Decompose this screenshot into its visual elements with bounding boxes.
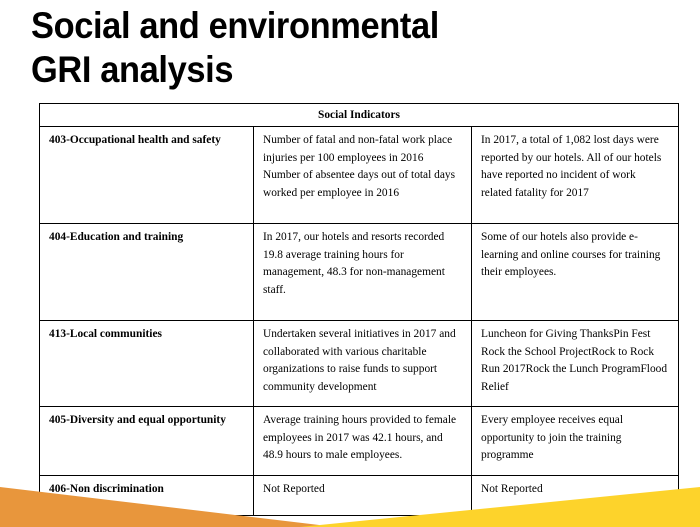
disclosure-description: In 2017, a total of 1,082 lost days were… — [472, 127, 679, 224]
measure-description: Not Reported — [254, 476, 472, 516]
slide-canvas: Social and environmental GRI analysis So… — [0, 0, 700, 527]
table-row: 405-Diversity and equal opportunity Aver… — [40, 407, 679, 476]
indicator-code-label: 413-Local communities — [40, 321, 254, 407]
measure-description: Number of fatal and non-fatal work place… — [254, 127, 472, 224]
disclosure-description: Not Reported — [472, 476, 679, 516]
indicator-code-label: 405-Diversity and equal opportunity — [40, 407, 254, 476]
disclosure-description: Every employee receives equal opportunit… — [472, 407, 679, 476]
indicator-code-label: 403-Occupational health and safety — [40, 127, 254, 224]
gri-indicators-table: Social Indicators 403-Occupational healt… — [39, 103, 679, 516]
table-row: 403-Occupational health and safety Numbe… — [40, 127, 679, 224]
indicator-code-label: 404-Education and training — [40, 224, 254, 321]
table-row: 406-Non discrimination Not Reported Not … — [40, 476, 679, 516]
measure-description: Undertaken several initiatives in 2017 a… — [254, 321, 472, 407]
disclosure-description: Luncheon for Giving ThanksPin Fest Rock … — [472, 321, 679, 407]
measure-description: Average training hours provided to femal… — [254, 407, 472, 476]
disclosure-description: Some of our hotels also provide e-learni… — [472, 224, 679, 321]
measure-description: In 2017, our hotels and resorts recorded… — [254, 224, 472, 321]
table-row: 413-Local communities Undertaken several… — [40, 321, 679, 407]
table-row: 404-Education and training In 2017, our … — [40, 224, 679, 321]
table-header-title: Social Indicators — [40, 104, 679, 127]
indicator-code-label: 406-Non discrimination — [40, 476, 254, 516]
table-header-row: Social Indicators — [40, 104, 679, 127]
page-title: Social and environmental GRI analysis — [31, 4, 552, 92]
